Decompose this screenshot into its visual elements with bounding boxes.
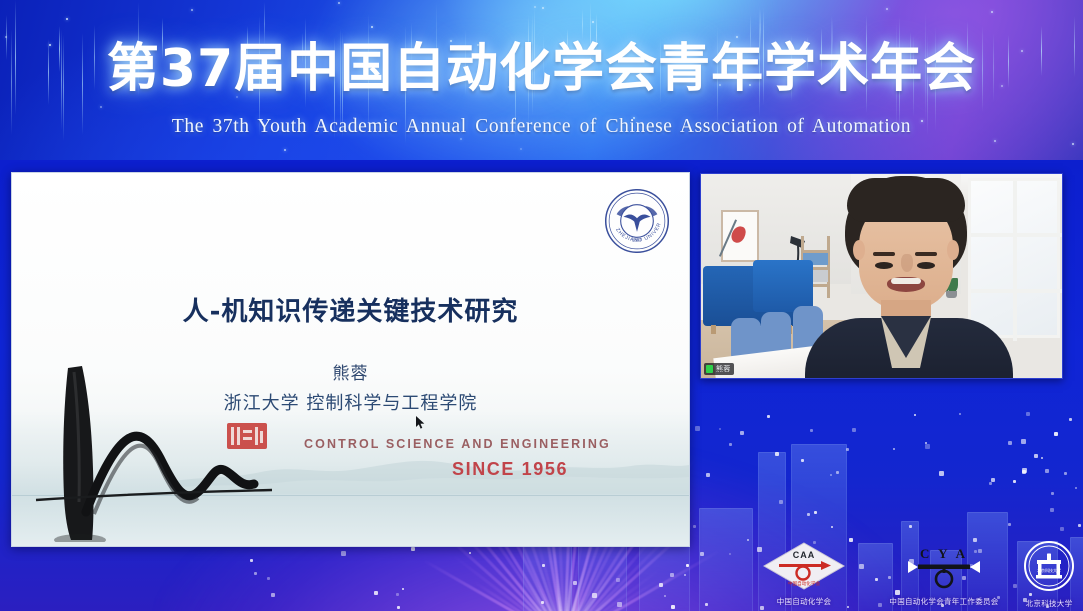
ear-left [853, 240, 865, 260]
teeth [891, 278, 921, 284]
svg-text:中国自动化学会: 中国自动化学会 [788, 580, 821, 587]
conference-banner: 第37届中国自动化学会青年学术年会 The 37th Youth Academi… [0, 0, 1083, 160]
eye-right [917, 262, 935, 269]
conference-title-en: The 37th Youth Academic Annual Conferenc… [0, 114, 1083, 140]
sponsor-caa: CAA 中国自动化学会 中国自动化学会 [749, 542, 859, 607]
sponsor-ustb-label: 北京科技大学 [1001, 598, 1083, 609]
conference-stream-stage: 第37届中国自动化学会青年学术年会 The 37th Youth Academi… [0, 0, 1083, 611]
hair-fringe [847, 178, 965, 222]
eyebrow-right [915, 252, 937, 256]
nose [901, 254, 913, 272]
slide-since-label: SINCE 1956 [452, 459, 568, 480]
red-chinese-seal [226, 421, 268, 451]
slide-dept-en: CONTROL SCIENCE AND ENGINEERING [304, 437, 611, 451]
svg-text:CAA: CAA [793, 550, 816, 560]
sponsor-caa-label: 中国自动化学会 [749, 596, 859, 607]
caa-diamond-logo: CAA 中国自动化学会 [763, 542, 845, 590]
sponsor-ustb: 北京科技大学 北京科技大学 [1001, 540, 1083, 609]
wall-art-frame [721, 210, 759, 262]
svg-text:C Y A: C Y A [920, 546, 968, 561]
sponsor-logo-row: CAA 中国自动化学会 中国自动化学会 C Y A 中国自动化学会青年工作委员会 [735, 536, 1083, 611]
participant-name-label: 熊蓉 [716, 364, 730, 374]
participant-name-badge: 熊蓉 [704, 363, 734, 375]
participant-video-tile[interactable]: 熊蓉 [700, 173, 1063, 379]
participant-person [819, 176, 994, 379]
ustb-seal-logo: 北京科技大学 [1023, 540, 1075, 592]
eyebrow-left [873, 252, 895, 256]
zhejiang-university-logo: 1897 ZHEJIANG UNIVERSITY [603, 187, 671, 255]
ink-brush-painting [34, 362, 294, 542]
eye-left [875, 262, 893, 269]
ear-right [947, 240, 959, 260]
conference-title-zh: 第37届中国自动化学会青年学术年会 [0, 38, 1083, 100]
sofa-leg [711, 325, 716, 334]
sponsor-cya-label: 中国自动化学会青年工作委员会 [869, 596, 1019, 607]
microphone-icon [706, 365, 713, 373]
cya-logo: C Y A [898, 542, 990, 590]
svg-text:北京科技大学: 北京科技大学 [1037, 567, 1061, 573]
shared-slide-panel[interactable]: 1897 ZHEJIANG UNIVERSITY 人-机知识传递关键技术研究 熊… [11, 172, 690, 547]
sponsor-cya: C Y A 中国自动化学会青年工作委员会 [869, 542, 1019, 607]
mouth [887, 277, 925, 292]
mouse-cursor [416, 416, 425, 429]
slide-main-title: 人-机知识传递关键技术研究 [12, 291, 689, 328]
